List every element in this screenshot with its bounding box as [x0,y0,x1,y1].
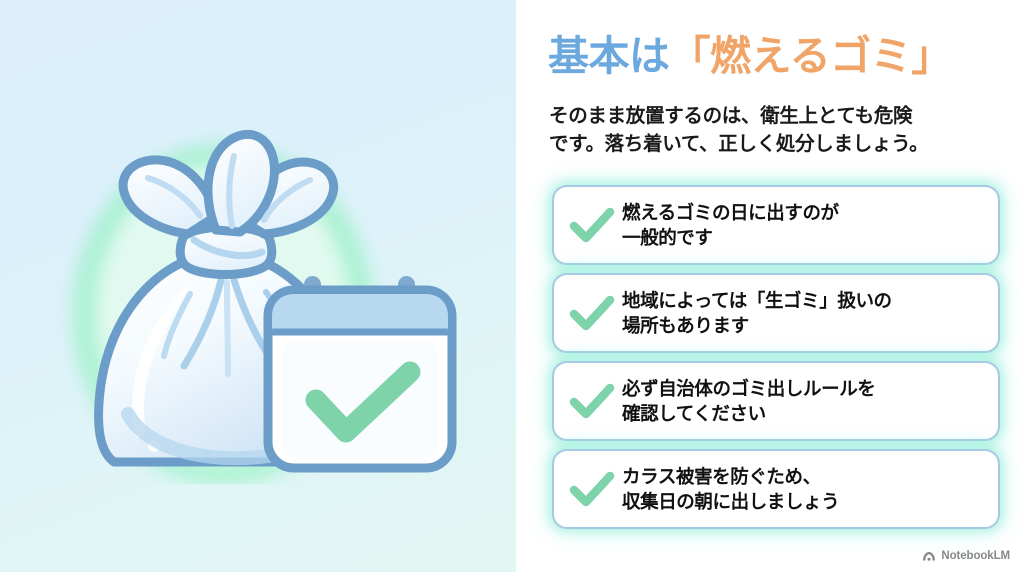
slide-root: 基本は「燃えるゴミ」 そのまま放置するのは、衛生上とても危険 です。落ち着いて、… [0,0,1024,572]
illustration-wrapper [0,0,516,572]
bullet-card-text: 地域によっては「生ゴミ」扱いの 場所もあります [620,288,984,338]
subtitle-line-1: そのまま放置するのは、衛生上とても危険 [549,103,1001,131]
bullet-card[interactable]: 必ず自治体のゴミ出しルールを 確認してください [552,361,1000,441]
check-icon [564,290,620,336]
bullet-card[interactable]: 燃えるゴミの日に出すのが 一般的です [552,185,1000,265]
subtitle: そのまま放置するのは、衛生上とても危険 です。落ち着いて、正しく処分しましょう。 [549,103,1001,158]
check-icon [564,202,620,248]
check-icon [564,378,620,424]
content-panel: 基本は「燃えるゴミ」 そのまま放置するのは、衛生上とても危険 です。落ち着いて、… [516,0,1024,572]
bullet-card-line-2: 確認してください [622,401,984,426]
bullet-card[interactable]: カラス被害を防ぐため、 収集日の朝に出しましょう [552,449,1000,529]
bullet-card-line-2: 収集日の朝に出しましょう [622,489,984,514]
bullet-card-line-1: 燃えるゴミの日に出すのが [622,200,984,225]
notebooklm-label: NotebookLM [941,550,1010,562]
bullet-card-line-1: 必ず自治体のゴミ出しルールを [622,376,984,401]
subtitle-line-2: です。落ち着いて、正しく処分しましょう。 [549,131,1001,159]
bullet-card-text: カラス被害を防ぐため、 収集日の朝に出しましょう [620,464,984,514]
page-title-segment-blue: 基本は [548,33,670,79]
check-icon [564,466,620,512]
bullet-card-list: 燃えるゴミの日に出すのが 一般的です 地域によっては「生ゴミ」扱いの 場所もあり… [552,185,1002,529]
bullet-card-line-2: 場所もあります [622,313,984,338]
bullet-card[interactable]: 地域によっては「生ゴミ」扱いの 場所もあります [552,273,1000,353]
bullet-card-line-1: 地域によっては「生ゴミ」扱いの [622,288,984,313]
bag-top-loops [123,134,334,234]
page-title-segment-orange: 「燃えるゴミ」 [670,33,952,79]
garbage-bag-with-calendar-illustration [38,84,468,484]
bullet-card-line-1: カラス被害を防ぐため、 [622,464,984,489]
calendar-icon [268,276,452,468]
bullet-card-line-2: 一般的です [622,225,984,250]
notebooklm-watermark: NotebookLM [922,550,1010,562]
illustration-panel [0,0,516,572]
bullet-card-text: 必ず自治体のゴミ出しルールを 確認してください [620,376,984,426]
page-title: 基本は「燃えるゴミ」 [548,34,996,80]
notebooklm-icon [922,550,936,562]
bullet-card-text: 燃えるゴミの日に出すのが 一般的です [620,200,984,250]
